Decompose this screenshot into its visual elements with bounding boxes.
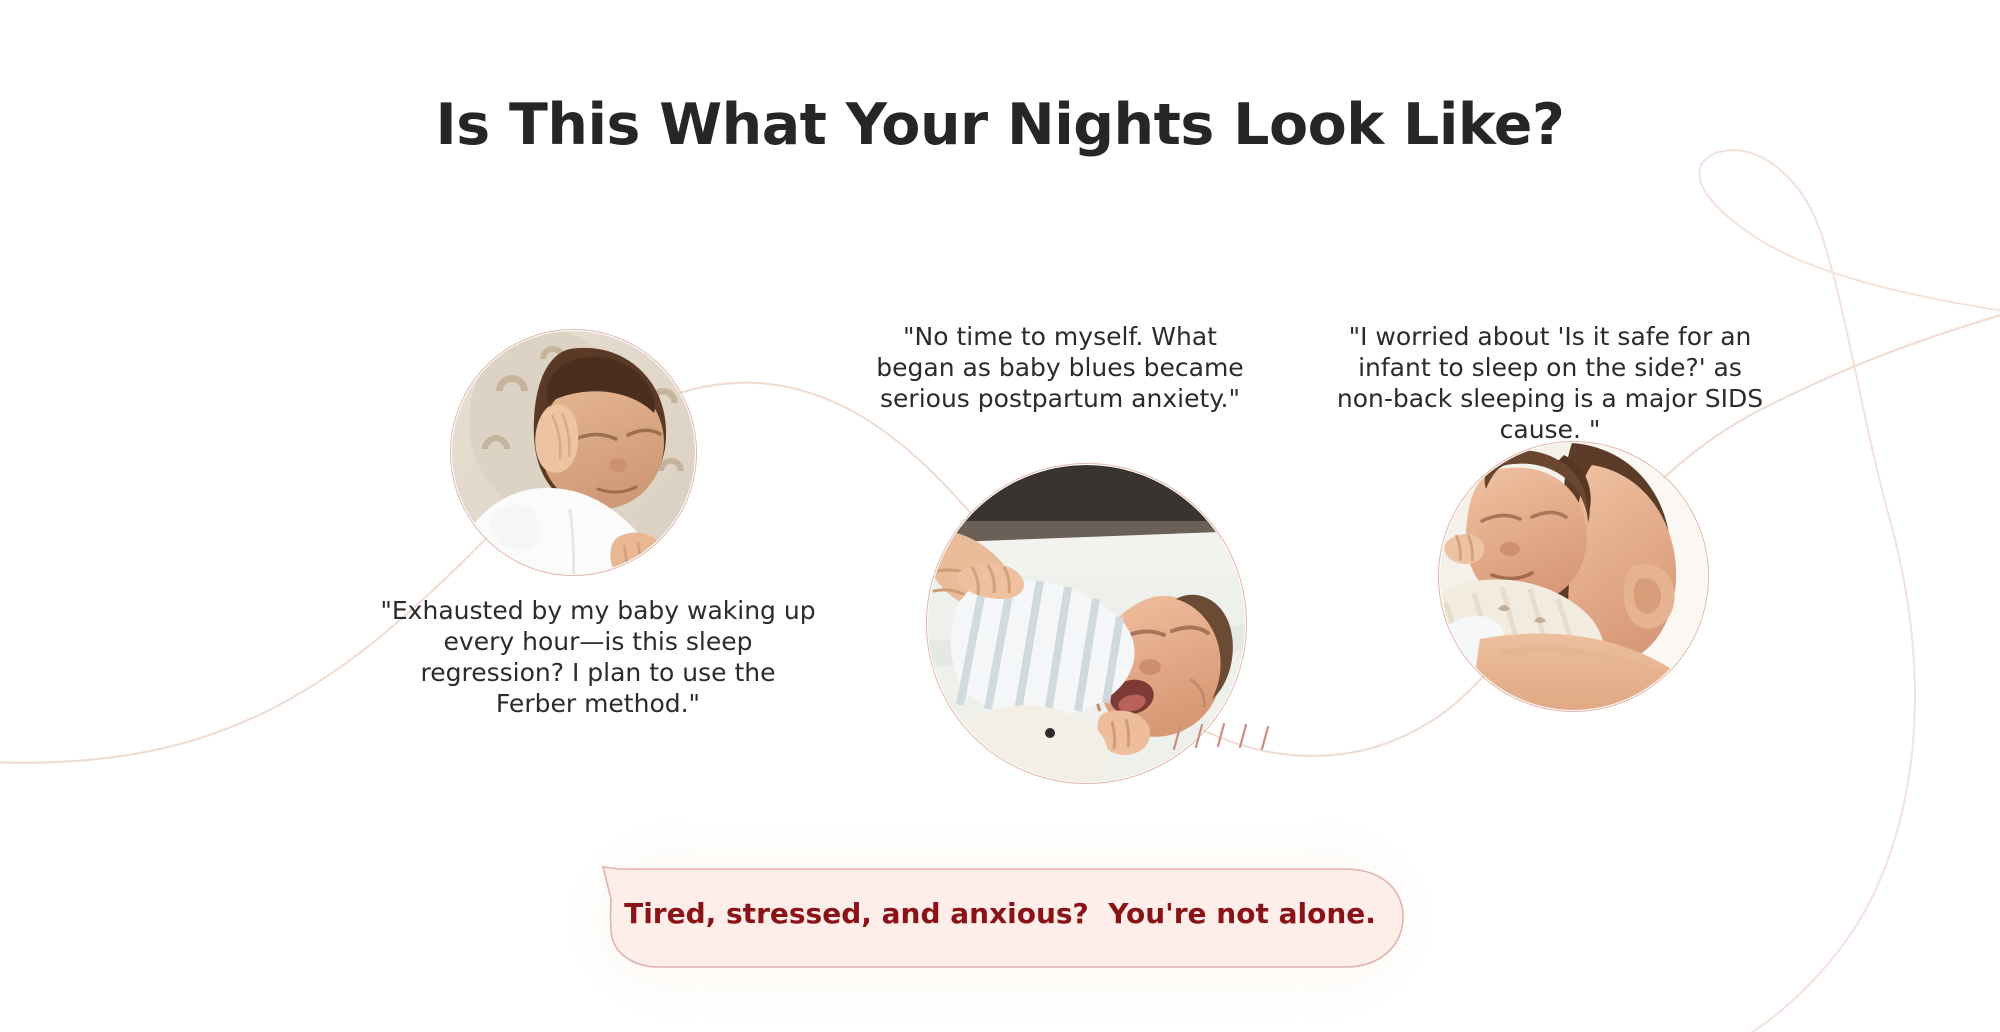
reassurance-banner: Tired, stressed, and anxious? You're not…: [575, 845, 1425, 995]
nights-section: Is This What Your Nights Look Like?: [0, 0, 2000, 1032]
swoosh-loop-path: [1699, 150, 2000, 1032]
banner-text: Tired, stressed, and anxious? You're not…: [575, 897, 1425, 930]
testimonial-photo-sleep-regression: [452, 331, 695, 574]
testimonial-quote-sids-safe-sleep: "I worried about 'Is it safe for an infa…: [1328, 321, 1772, 445]
testimonial-quote-postpartum-anxiety: "No time to myself. What began as baby b…: [860, 321, 1260, 414]
page-title: Is This What Your Nights Look Like?: [0, 92, 2000, 158]
testimonial-photo-sids-safe-sleep: [1440, 443, 1707, 710]
testimonial-quote-sleep-regression: "Exhausted by my baby waking up every ho…: [378, 595, 818, 719]
stitch-marks: [1170, 715, 1290, 775]
